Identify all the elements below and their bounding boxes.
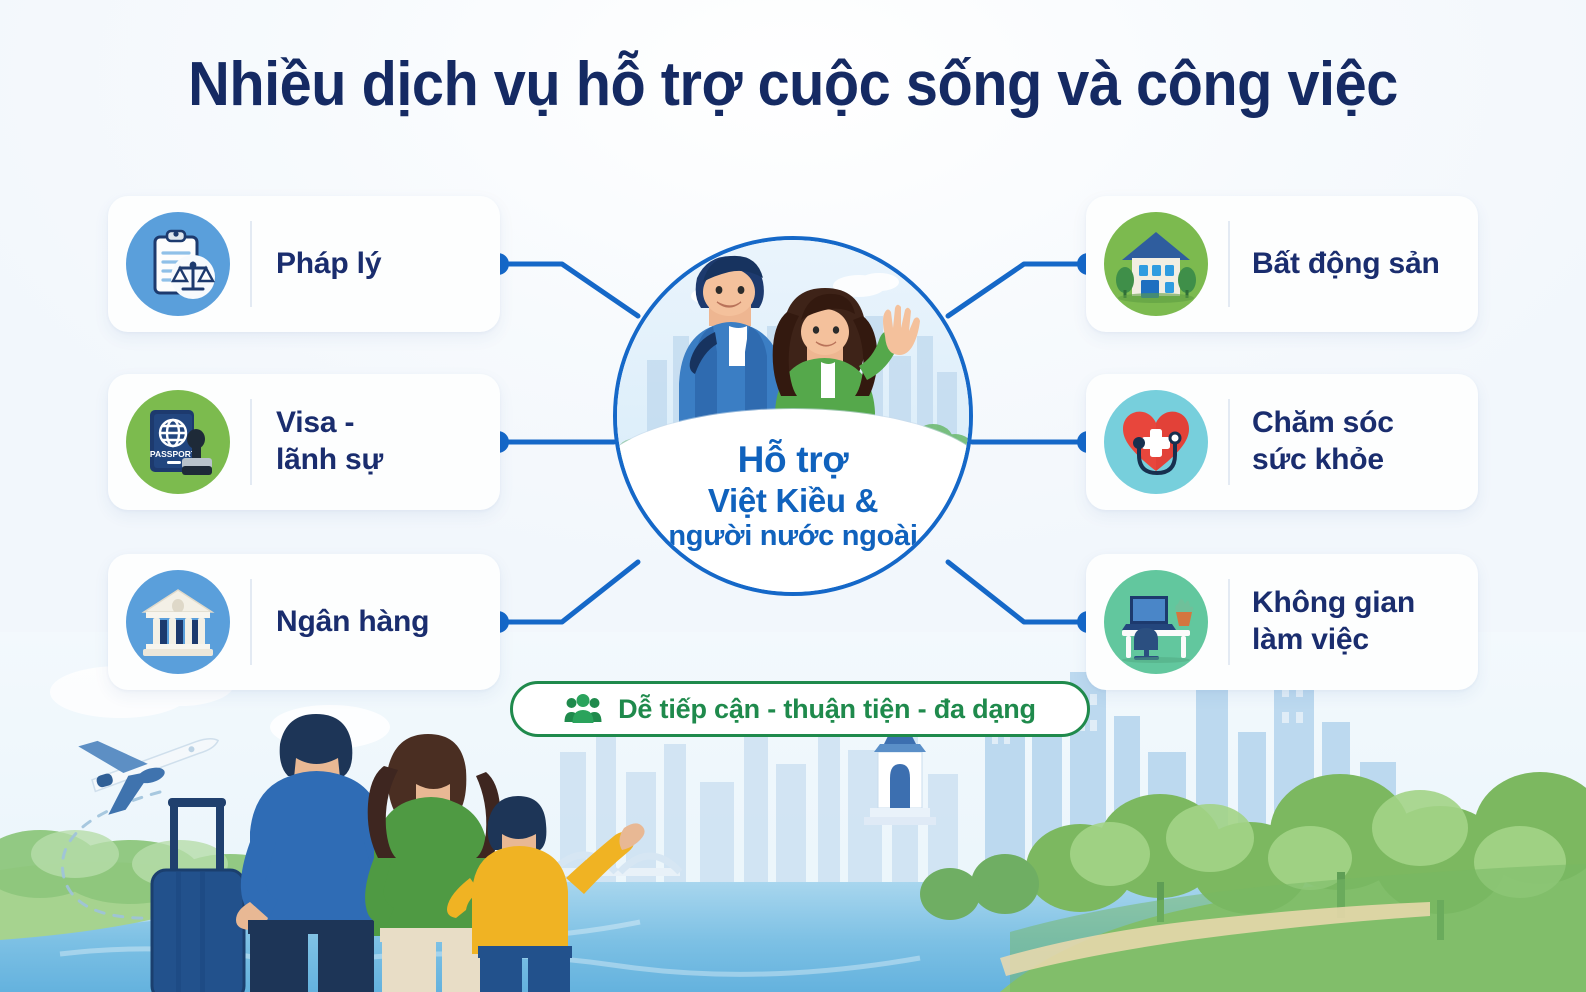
office-chair xyxy=(1134,628,1159,660)
center-hub[interactable]: Hỗ trợ Việt Kiều & người nước ngoài xyxy=(613,236,973,596)
suitcase xyxy=(152,798,244,992)
desk-laptop-workspace-icon xyxy=(1104,570,1208,674)
card-divider xyxy=(1228,221,1230,307)
card-label-khong-gian-lam-viec: Không gian làm việc xyxy=(1252,585,1415,658)
card-label-line1: Không gian xyxy=(1252,585,1415,622)
hub-line-2: Việt Kiều & xyxy=(617,482,969,520)
card-label-line2: làm việc xyxy=(1252,622,1415,659)
card-phap-ly[interactable]: Pháp lý xyxy=(108,196,500,332)
card-khong-gian-lam-viec[interactable]: Không gian làm việc xyxy=(1086,554,1478,690)
card-divider xyxy=(1228,579,1230,665)
card-label-visa-lanh-su: Visa - lãnh sự xyxy=(276,405,383,478)
feature-badge[interactable]: Dễ tiếp cận - thuận tiện - đa dạng xyxy=(510,681,1090,737)
card-label-phap-ly: Pháp lý xyxy=(276,246,381,283)
hub-text-block: Hỗ trợ Việt Kiều & người nước ngoài xyxy=(617,439,969,554)
hub-line-1: Hỗ trợ xyxy=(617,439,969,482)
card-ngan-hang[interactable]: Ngân hàng xyxy=(108,554,500,690)
card-divider xyxy=(250,399,252,485)
heart-stethoscope-icon xyxy=(1104,390,1208,494)
card-label-cham-soc-suc-khoe: Chăm sóc sức khỏe xyxy=(1252,405,1394,478)
waving-hand xyxy=(883,305,920,355)
card-cham-soc-suc-khoe[interactable]: Chăm sóc sức khỏe xyxy=(1086,374,1478,510)
card-label-line2: lãnh sự xyxy=(276,442,383,479)
passport-stamp-icon: PASSPORT xyxy=(126,390,230,494)
card-divider xyxy=(1228,399,1230,485)
svg-text:PASSPORT: PASSPORT xyxy=(150,449,197,459)
father-figure xyxy=(236,714,397,992)
card-label-line1: Visa - xyxy=(276,405,383,442)
badge-label: Dễ tiếp cận - thuận tiện - đa dạng xyxy=(618,694,1036,725)
card-divider xyxy=(250,579,252,665)
bank-building-icon xyxy=(126,570,230,674)
card-label-line1: Chăm sóc xyxy=(1252,405,1394,442)
infographic-stage: Nhiều dịch vụ hỗ trợ cuộc sống và công v… xyxy=(0,0,1586,992)
card-bat-dong-san[interactable]: Bất động sản xyxy=(1086,196,1478,332)
hub-line-3: người nước ngoài xyxy=(617,520,969,554)
house-real-estate-icon xyxy=(1104,212,1208,316)
page-title: Nhiều dịch vụ hỗ trợ cuộc sống và công v… xyxy=(56,52,1531,119)
card-label-ngan-hang: Ngân hàng xyxy=(276,604,429,641)
card-label-bat-dong-san: Bất động sản xyxy=(1252,246,1440,283)
legal-clipboard-scales-icon xyxy=(126,212,230,316)
card-divider xyxy=(250,221,252,307)
card-label-line2: sức khỏe xyxy=(1252,442,1394,479)
group-people-icon xyxy=(564,694,602,724)
card-visa-lanh-su[interactable]: PASSPORT Visa - lãnh sự xyxy=(108,374,500,510)
